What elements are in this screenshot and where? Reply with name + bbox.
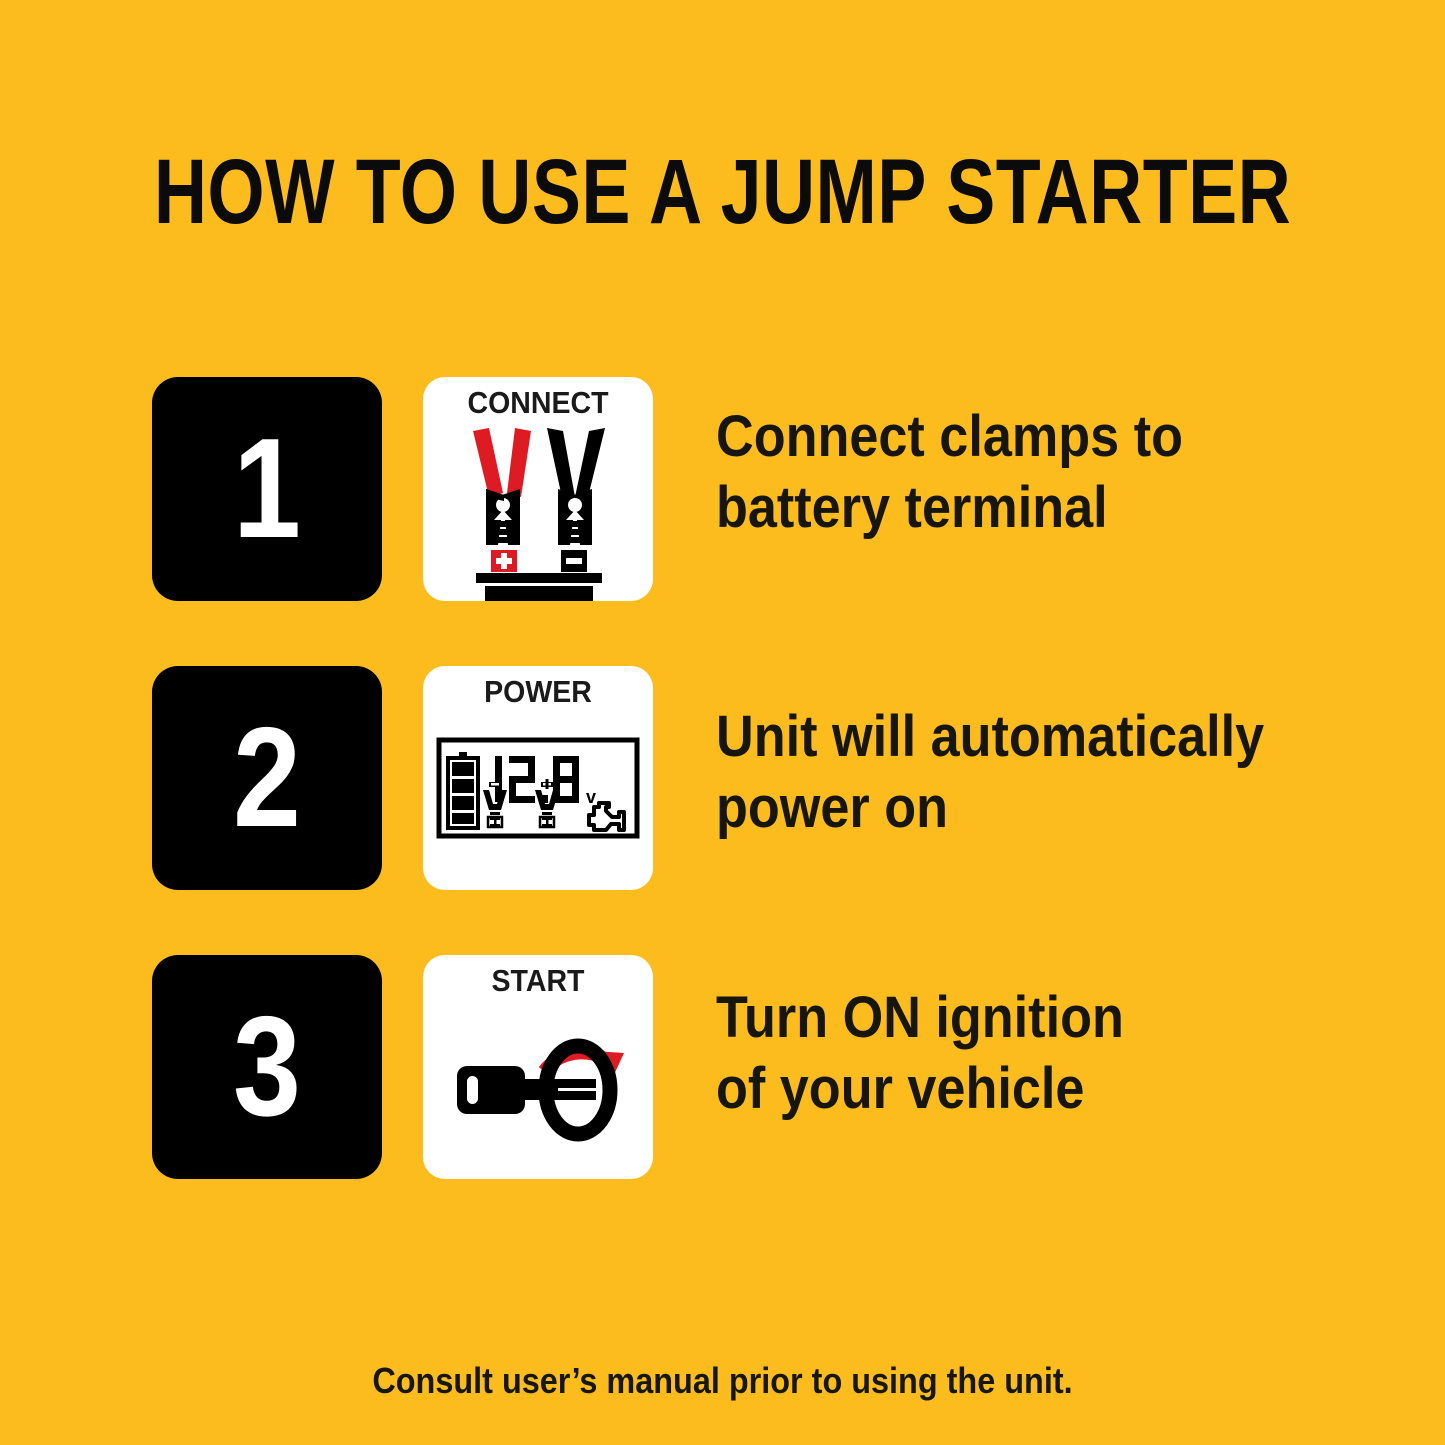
engine-icon: [589, 803, 624, 830]
step-number-badge-2: 2: [152, 666, 382, 890]
step-text-line: of your vehicle: [716, 1053, 1310, 1124]
step-text-line: Unit will automatically: [716, 701, 1310, 772]
step-text-1: Connect clamps to battery terminal: [716, 401, 1310, 543]
lcd-display-icon: v: [423, 666, 653, 890]
step-text-line: battery terminal: [716, 472, 1310, 543]
step-number-badge-3: 3: [152, 955, 382, 1179]
step-row-1: 1 CONNECT: [0, 377, 1445, 601]
step-number-3: 3: [168, 955, 366, 1179]
step-row-3: 3 START Turn ON ig: [0, 955, 1445, 1179]
ignition-key-icon: [423, 955, 653, 1179]
step-text-2: Unit will automatically power on: [716, 701, 1310, 843]
step-text-line: Connect clamps to: [716, 401, 1310, 472]
step-text-line: power on: [716, 772, 1310, 843]
step-icon-card-1: CONNECT: [423, 377, 653, 601]
step-icon-card-3: START: [423, 955, 653, 1179]
battery-clamps-icon: [423, 377, 653, 601]
jump-starter-infographic: HOW TO USE A JUMP STARTER 1 CONNECT: [0, 0, 1445, 1445]
step-number-badge-1: 1: [152, 377, 382, 601]
step-row-2: 2 POWER: [0, 666, 1445, 890]
step-text-line: Turn ON ignition: [716, 982, 1310, 1053]
step-text-3: Turn ON ignition of your vehicle: [716, 982, 1310, 1124]
step-number-2: 2: [168, 666, 366, 890]
footer-note: Consult user’s manual prior to using the…: [72, 1360, 1373, 1402]
step-icon-card-2: POWER: [423, 666, 653, 890]
step-number-1: 1: [168, 377, 366, 601]
page-title: HOW TO USE A JUMP STARTER: [145, 146, 1301, 238]
svg-text:v: v: [586, 787, 596, 807]
